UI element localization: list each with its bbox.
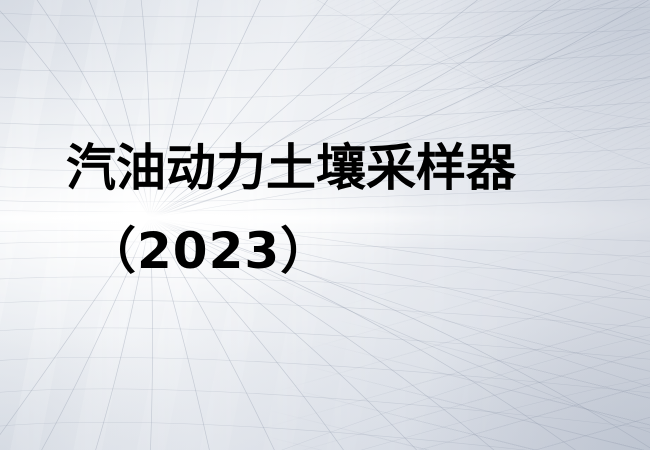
page-title: 汽油动力土壤采样器: [66, 143, 516, 193]
slide-text-block: 汽油动力土壤采样器 （2023）: [0, 0, 650, 450]
page-subtitle-year: （2023）: [86, 226, 331, 276]
title-slide: 汽油动力土壤采样器 （2023）: [0, 0, 650, 450]
